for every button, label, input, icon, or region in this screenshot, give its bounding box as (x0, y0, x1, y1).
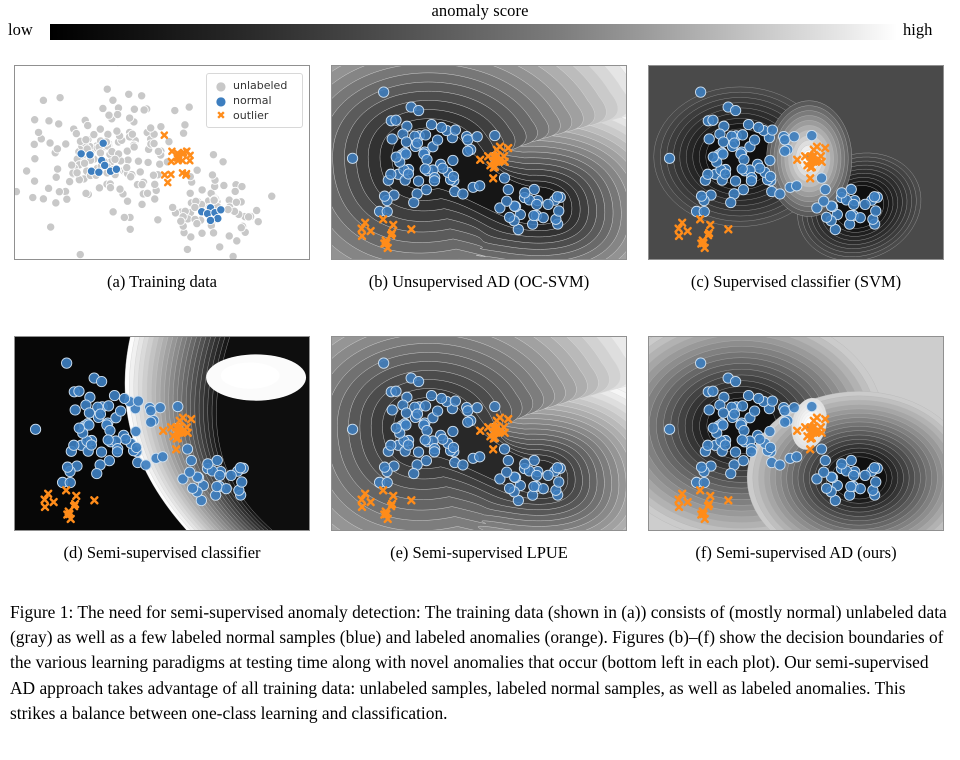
colorbar-high-label: high (903, 20, 932, 40)
panel-unsupervised-ad (331, 65, 627, 260)
normal-marker-icon: ● (212, 95, 230, 107)
panel-training-data: ● unlabeled ● normal ✖ outlier (14, 65, 310, 260)
panel-e-plot (332, 337, 626, 530)
panel-semisupervised-ad (648, 336, 944, 531)
caption-panel-e: (e) Semi-supervised LPUE (329, 543, 629, 563)
caption-panel-d: (d) Semi-supervised classifier (12, 543, 312, 563)
legend-item-outlier: ✖ outlier (212, 108, 296, 123)
colorbar-gradient (50, 24, 897, 40)
panel-b-plot (332, 66, 626, 259)
legend: ● unlabeled ● normal ✖ outlier (206, 73, 303, 128)
legend-item-normal: ● normal (212, 93, 296, 108)
colorbar-title: anomaly score (0, 1, 960, 21)
panel-semisupervised-lpue (331, 336, 627, 531)
legend-label-normal: normal (230, 94, 272, 107)
colorbar-block: anomaly score low high (0, 0, 960, 50)
caption-panel-b: (b) Unsupervised AD (OC-SVM) (329, 272, 629, 292)
colorbar-low-label: low (8, 20, 33, 40)
figure-caption: Figure 1: The need for semi-supervised a… (10, 600, 950, 726)
caption-panel-c: (c) Supervised classifier (SVM) (646, 272, 946, 292)
figure-caption-label: Figure 1: (10, 602, 73, 622)
panel-supervised-classifier (648, 65, 944, 260)
legend-label-unlabeled: unlabeled (230, 79, 287, 92)
panel-d-plot (15, 337, 309, 530)
legend-label-outlier: outlier (230, 109, 268, 122)
figure-caption-text: The need for semi-supervised anomaly det… (10, 602, 947, 723)
panel-c-plot (649, 66, 943, 259)
legend-item-unlabeled: ● unlabeled (212, 78, 296, 93)
panel-f-plot (649, 337, 943, 530)
outlier-marker-icon: ✖ (212, 110, 230, 121)
caption-panel-f: (f) Semi-supervised AD (ours) (646, 543, 946, 563)
unlabeled-marker-icon: ● (212, 80, 230, 92)
panel-semisupervised-classifier (14, 336, 310, 531)
caption-panel-a: (a) Training data (12, 272, 312, 292)
